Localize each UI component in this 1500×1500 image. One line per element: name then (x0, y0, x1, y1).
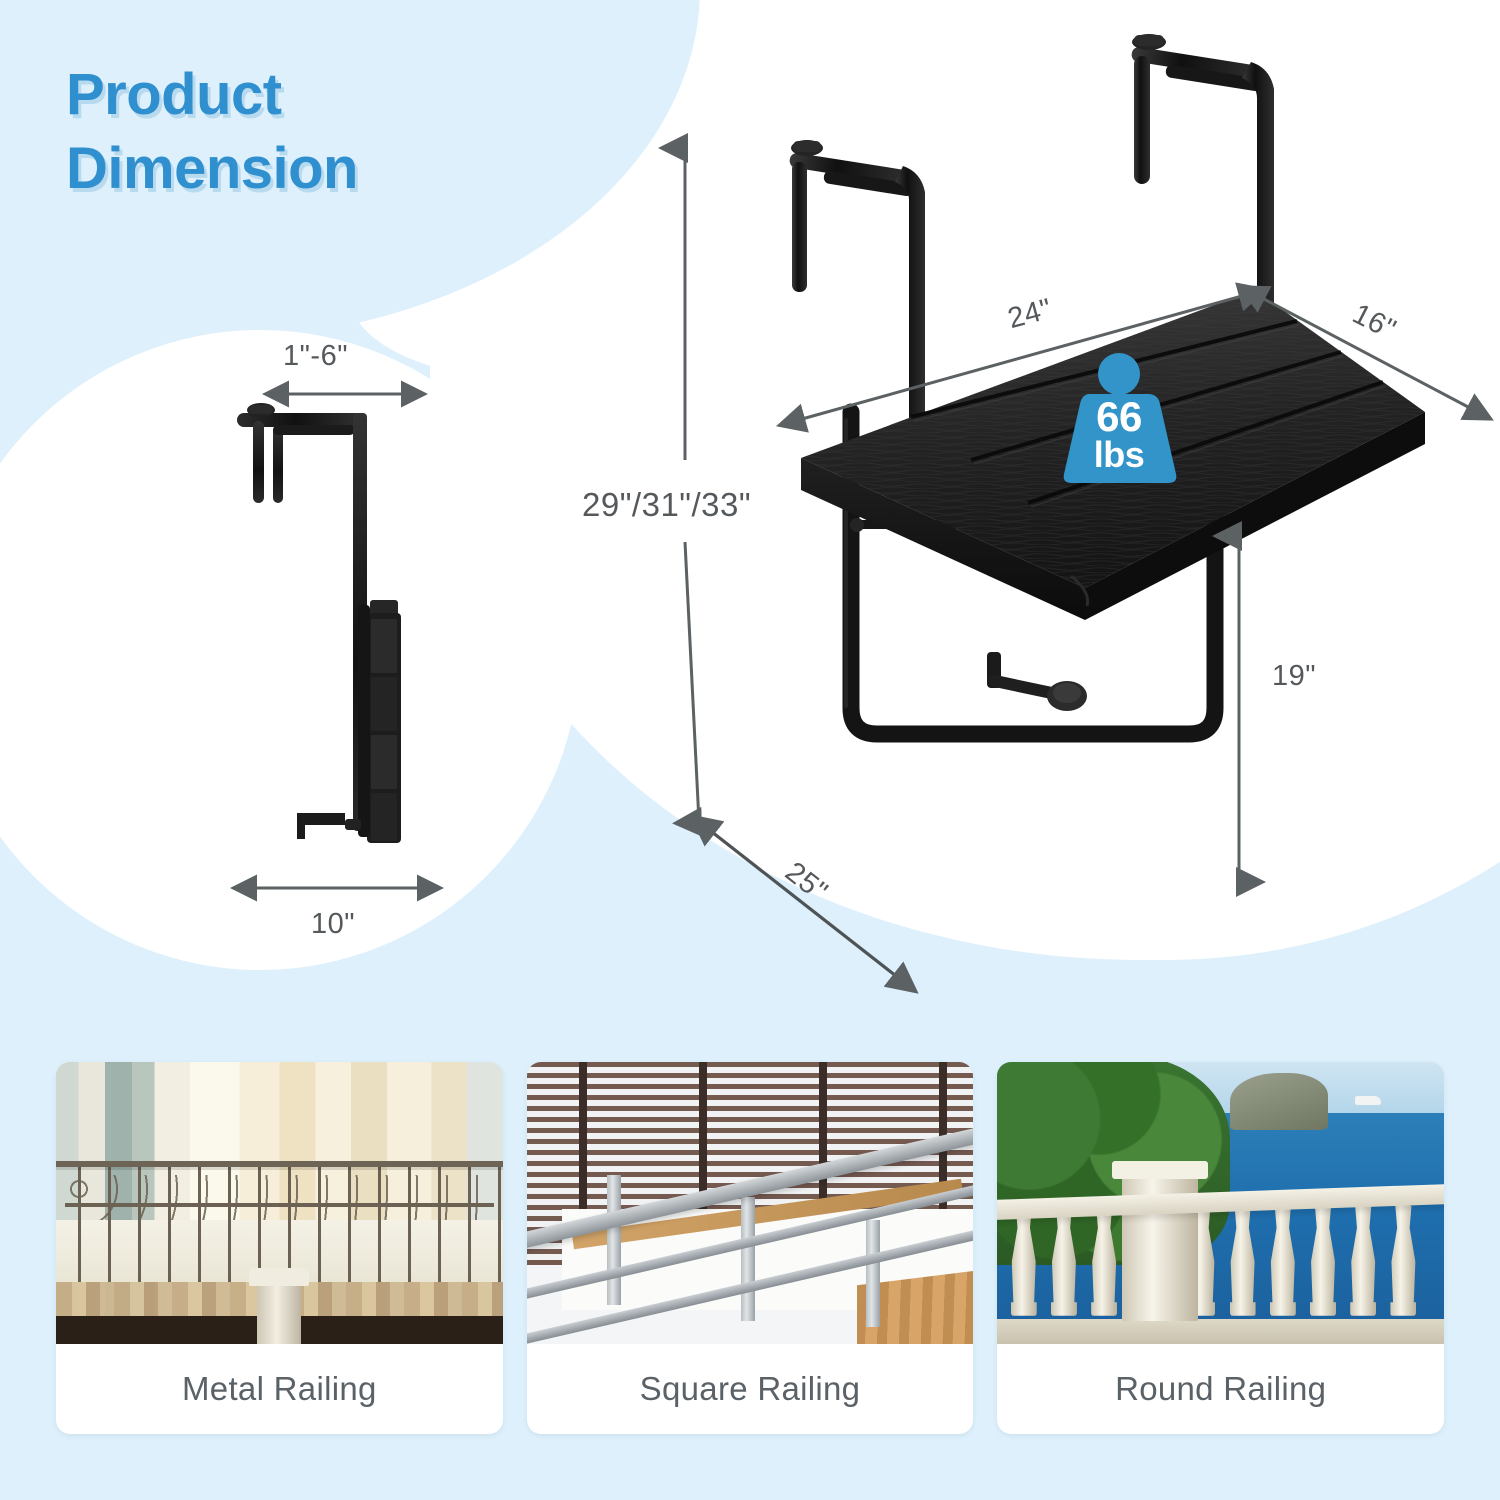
folded-table-illustration (225, 395, 465, 875)
square-railing-photo (527, 1062, 974, 1344)
weight-capacity-badge: 66 lbs (1058, 352, 1180, 484)
folded-depth-label: 10" (311, 908, 355, 941)
railing-card-metal[interactable]: Metal Railing (56, 1062, 503, 1434)
clamp-range-label: 1"-6" (283, 340, 348, 373)
title-line-1: Product (66, 58, 358, 132)
railing-card-round[interactable]: Round Railing (997, 1062, 1444, 1434)
round-railing-caption: Round Railing (997, 1344, 1444, 1434)
title-line-2: Dimension (66, 132, 358, 206)
total-depth-arrow (700, 820, 910, 990)
overall-height-arrow-lower (672, 538, 714, 834)
page-title: Product Dimension (66, 58, 358, 206)
table-height-arrow (1226, 526, 1252, 892)
railing-type-cards: Metal Railing Square Railing (0, 1062, 1500, 1500)
square-railing-caption: Square Railing (527, 1344, 974, 1434)
metal-railing-caption: Metal Railing (56, 1344, 503, 1434)
overall-height-label: 29"/31"/33" (582, 486, 751, 524)
table-height-label: 19" (1272, 660, 1316, 693)
overall-height-arrow-upper (672, 138, 698, 470)
round-railing-photo (997, 1062, 1444, 1344)
railing-card-square[interactable]: Square Railing (527, 1062, 974, 1434)
weight-icon (1058, 352, 1180, 484)
folded-depth-arrow (248, 876, 426, 900)
adjustment-knob (987, 652, 1087, 711)
infographic-canvas: Product Dimension (0, 0, 1500, 1500)
metal-railing-photo (56, 1062, 503, 1344)
clamp-range-arrow (280, 382, 410, 406)
